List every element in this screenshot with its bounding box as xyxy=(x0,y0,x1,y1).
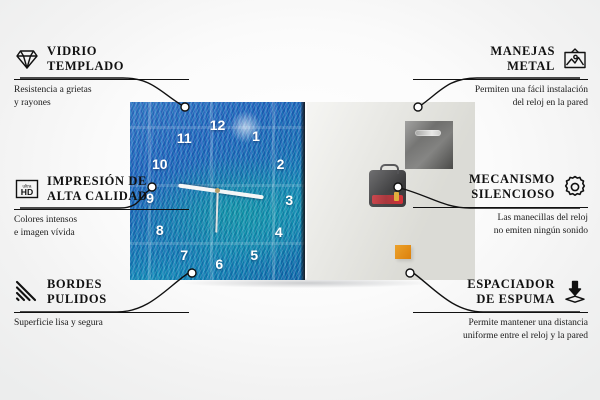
clock-number-2: 2 xyxy=(277,157,285,171)
callout-header: ultra HD IMPRESIÓN DE ALTA CALIDAD xyxy=(14,174,189,204)
callout-header: MECANISMO SILENCIOSO xyxy=(413,172,588,202)
clock-number-5: 5 xyxy=(250,248,258,262)
callout-divider xyxy=(14,79,189,81)
callout-divider xyxy=(14,312,189,314)
callout-metal-handles[interactable]: MANEJAS METAL Permiten una fácil instala… xyxy=(413,44,588,109)
diamond-icon xyxy=(14,46,40,72)
clock-mechanism xyxy=(369,170,406,207)
clock-center-pin xyxy=(215,188,220,193)
callout-desc-line2: no emiten ningún sonido xyxy=(413,225,588,238)
callout-desc-line1: Permiten una fácil instalación xyxy=(413,84,588,97)
callout-foam-spacer[interactable]: ESPACIADOR DE ESPUMA Permite mantener un… xyxy=(413,277,588,342)
callout-title: BORDES PULIDOS xyxy=(47,277,107,307)
clock-number-4: 4 xyxy=(275,225,283,239)
gear-icon xyxy=(562,174,588,200)
callout-divider xyxy=(14,209,189,211)
picture-hanger-icon xyxy=(562,46,588,72)
clock-number-6: 6 xyxy=(215,257,223,271)
callout-desc-line1: Resistencia a grietas xyxy=(14,84,189,97)
callout-title: ESPACIADOR DE ESPUMA xyxy=(467,277,555,307)
clock-number-1: 1 xyxy=(252,129,260,143)
clock-number-12: 12 xyxy=(210,118,226,132)
callout-desc-line1: Las manecillas del reloj xyxy=(413,212,588,225)
clock-number-3: 3 xyxy=(285,193,293,207)
foam-spacer-icon xyxy=(562,279,588,305)
callout-desc-line2: e imagen vívida xyxy=(14,227,189,240)
callout-hd-print[interactable]: ultra HD IMPRESIÓN DE ALTA CALIDAD Color… xyxy=(14,174,189,239)
clock-number-10: 10 xyxy=(152,157,168,171)
callout-desc-line2: uniforme entre el reloj y la pared xyxy=(413,330,588,343)
callout-header: BORDES PULIDOS xyxy=(14,277,189,307)
battery-label xyxy=(372,195,403,204)
ultra-hd-icon: ultra HD xyxy=(14,176,40,202)
callout-desc-line2: del reloj en la pared xyxy=(413,97,588,110)
callout-silent-mechanism[interactable]: MECANISMO SILENCIOSO Las manecillas del … xyxy=(413,172,588,237)
callout-divider xyxy=(413,79,588,81)
callout-divider xyxy=(413,312,588,314)
svg-text:HD: HD xyxy=(21,187,33,197)
mechanism-hanger-loop xyxy=(380,164,399,174)
callout-divider xyxy=(413,207,588,209)
callout-tempered-glass[interactable]: VIDRIO TEMPLADO Resistencia a grietas y … xyxy=(14,44,189,109)
callout-title: MANEJAS METAL xyxy=(490,44,555,74)
clock-number-7: 7 xyxy=(180,248,188,262)
callout-desc-line1: Superficie lisa y segura xyxy=(14,317,189,330)
callout-polished-edges[interactable]: BORDES PULIDOS Superficie lisa y segura xyxy=(14,277,189,330)
callout-header: MANEJAS METAL xyxy=(413,44,588,74)
callout-title: VIDRIO TEMPLADO xyxy=(47,44,124,74)
callout-desc-line2: y rayones xyxy=(14,97,189,110)
clock-number-11: 11 xyxy=(177,131,192,145)
callout-desc-line1: Permite mantener una distancia xyxy=(413,317,588,330)
foam-spacer xyxy=(395,245,411,259)
callout-header: VIDRIO TEMPLADO xyxy=(14,44,189,74)
callout-title: IMPRESIÓN DE ALTA CALIDAD xyxy=(47,174,148,204)
callout-title: MECANISMO SILENCIOSO xyxy=(469,172,555,202)
infographic-canvas: 12 1 2 3 4 5 6 7 8 9 10 11 xyxy=(0,0,600,400)
polished-edges-icon xyxy=(14,279,40,305)
callout-header: ESPACIADOR DE ESPUMA xyxy=(413,277,588,307)
metal-hanger xyxy=(405,121,453,169)
callout-desc-line1: Colores intensos xyxy=(14,214,189,227)
